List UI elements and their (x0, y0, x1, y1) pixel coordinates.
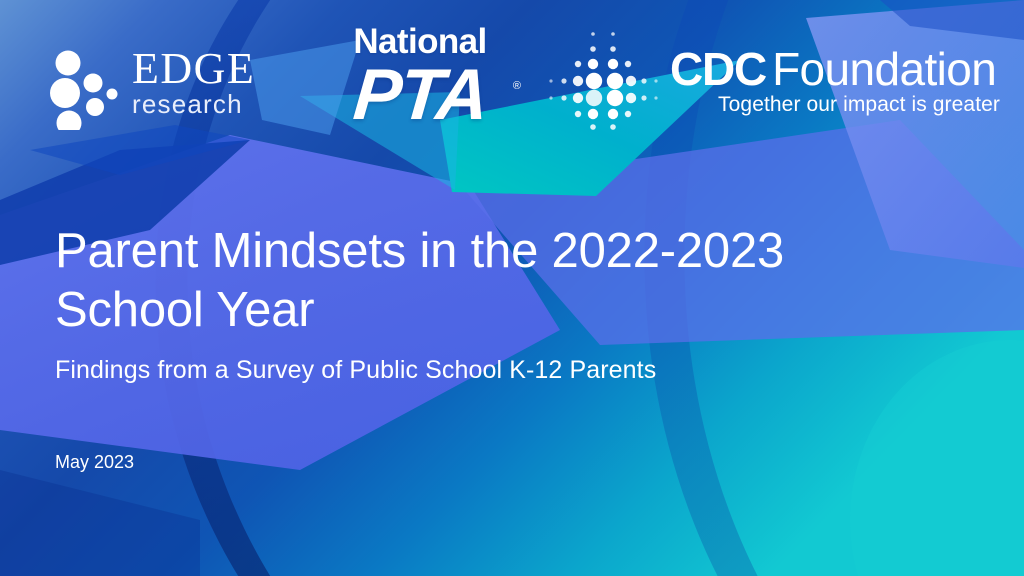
cdc-tagline: Together our impact is greater (670, 92, 1000, 118)
edge-tagline: research (132, 90, 255, 118)
edge-wordmark: EDGE research (132, 46, 255, 118)
cdc-foundation-logo: CDCFoundation Together our impact is gre… (548, 28, 1000, 136)
registered-trademark-icon: ® (513, 80, 521, 92)
slide-date: May 2023 (55, 450, 134, 474)
title-block: Parent Mindsets in the 2022-2023 School … (55, 222, 935, 386)
edge-name: EDGE (132, 46, 255, 92)
dot-cluster-icon (48, 50, 124, 130)
edge-research-logo: EDGE research (48, 50, 293, 132)
pta-main-wrap: PTA ® (325, 58, 515, 132)
page-subtitle: Findings from a Survey of Public School … (55, 354, 935, 386)
cdc-bold-word: CDC (670, 43, 766, 95)
cdc-wordmark: CDCFoundation Together our impact is gre… (670, 44, 1000, 118)
cdc-name-line: CDCFoundation (670, 44, 1000, 94)
cdc-light-word: Foundation (772, 43, 996, 95)
pta-wordmark: PTA (350, 58, 489, 132)
partner-logo-bar: EDGE research National PTA ® (0, 0, 1024, 145)
diamond-dot-matrix-icon (548, 28, 658, 136)
national-pta-logo: National PTA ® (325, 24, 515, 132)
page-title: Parent Mindsets in the 2022-2023 School … (55, 222, 935, 340)
title-slide: EDGE research National PTA ® (0, 0, 1024, 576)
